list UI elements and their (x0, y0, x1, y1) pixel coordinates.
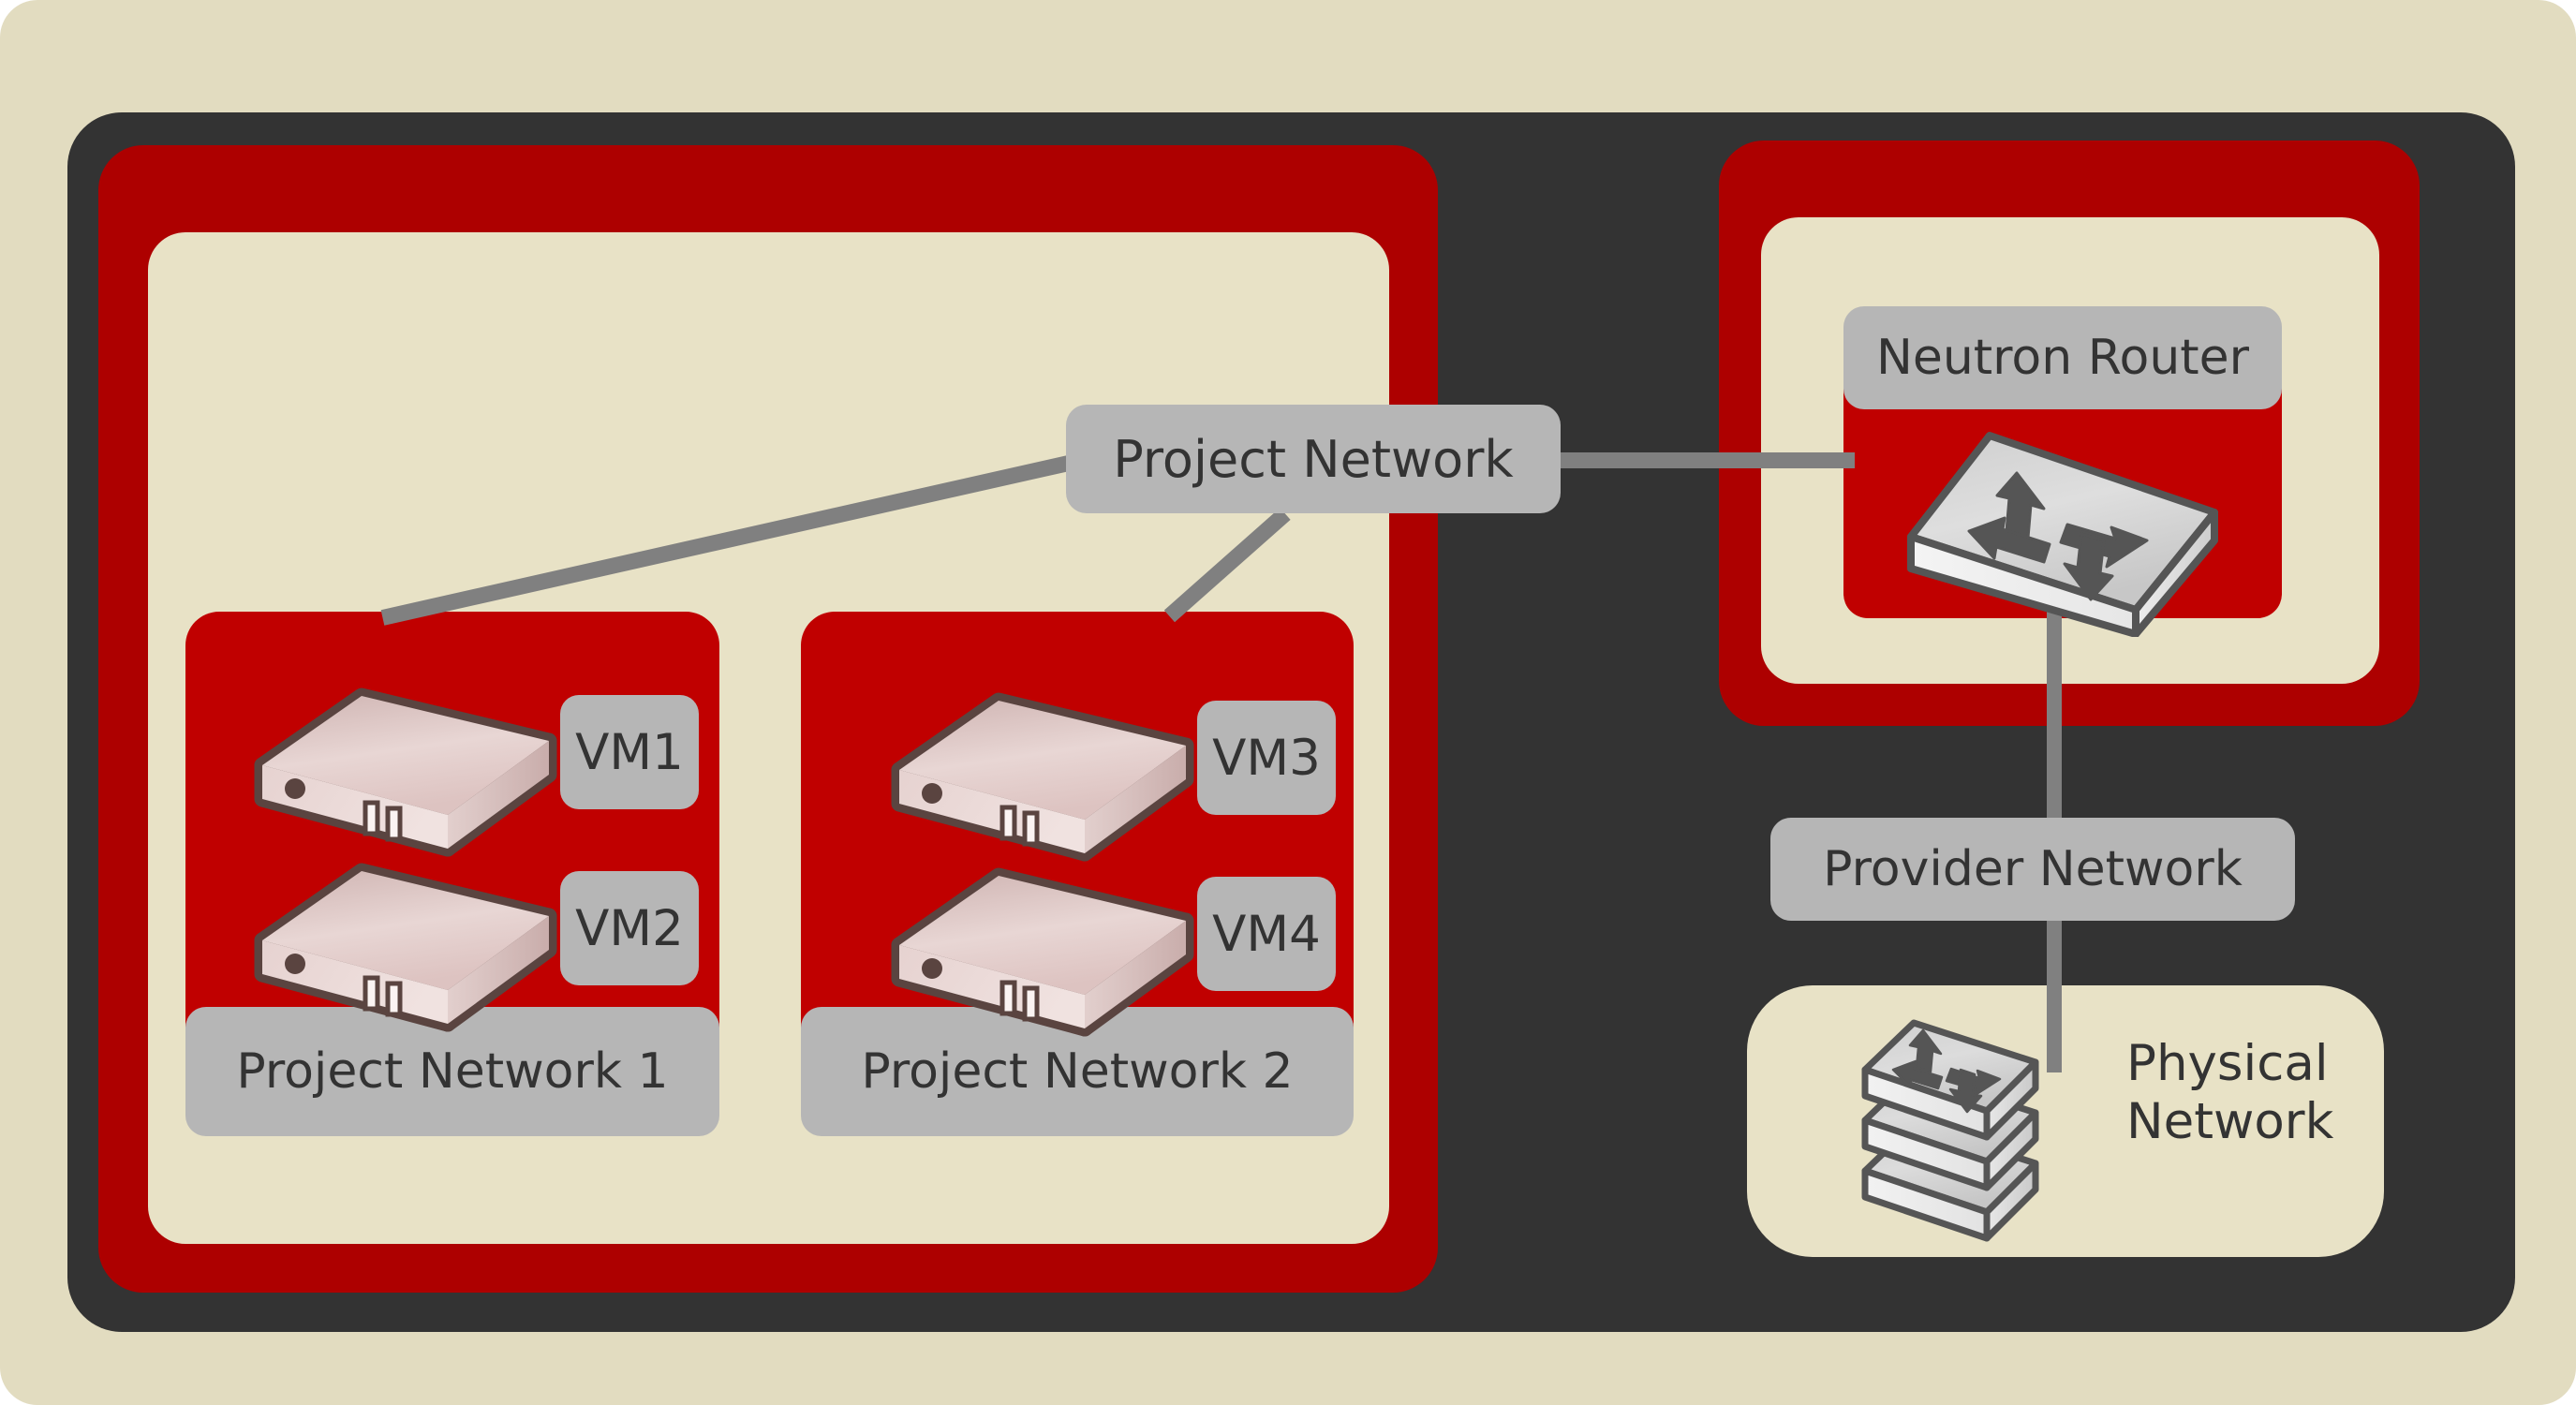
project-network-label[interactable]: Project Network (1066, 405, 1561, 513)
provider-network-label[interactable]: Provider Network (1770, 818, 2295, 921)
neutron-router-label[interactable]: Neutron Router (1843, 306, 2282, 409)
vm3-label[interactable]: VM3 (1197, 701, 1336, 815)
link-project-network-to-router (1555, 452, 1855, 468)
server-icon (251, 854, 560, 1032)
vm1-label[interactable]: VM1 (560, 695, 699, 809)
vm2-label[interactable]: VM2 (560, 871, 699, 985)
vm4-label[interactable]: VM4 (1197, 877, 1336, 991)
diagram-canvas: Compute Node (0, 0, 2576, 1405)
physical-network-label-line1: Physical (2126, 1035, 2361, 1093)
physical-network-label-line2: Network (2126, 1093, 2361, 1151)
switch-stack-icon (1859, 1002, 2131, 1255)
server-icon (251, 679, 560, 857)
router-icon (1903, 426, 2222, 637)
server-icon (888, 859, 1197, 1037)
server-icon (888, 684, 1197, 862)
physical-network-label: Physical Network (2126, 1035, 2361, 1151)
